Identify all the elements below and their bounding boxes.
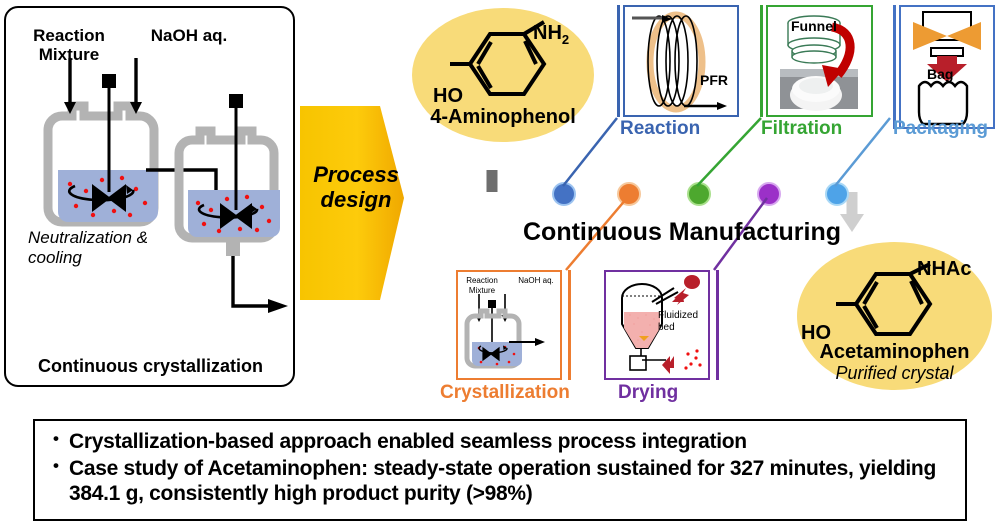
process-design-line1: Process: [300, 163, 412, 188]
pfr-label: PFR: [700, 72, 728, 88]
step-label-filtration: Filtration: [761, 118, 842, 140]
bag-label: Bag: [927, 66, 953, 82]
step-card-crystallization-accent-bar: [568, 270, 571, 380]
findings-box: Crystallization-based approach enabled s…: [33, 419, 967, 521]
stirred-tank-crystallizer-icon: [461, 294, 561, 378]
step-card-reaction-accent-bar: [617, 5, 620, 117]
fluidized-bed-label: Fluidized bed: [658, 310, 706, 333]
process-design-label: Process design: [300, 163, 412, 212]
step-card-packaging-accent-bar: [893, 5, 896, 129]
findings-list: Crystallization-based approach enabled s…: [35, 421, 965, 507]
plug-flow-reactor-coil-icon: [626, 8, 736, 114]
step-label-crystallization: Crystallization: [440, 382, 570, 404]
crystallizer-inlet-right-label: NaOH aq.: [512, 276, 560, 285]
findings-bullet-2: Case study of Acetaminophen: steady-stat…: [53, 456, 955, 506]
step-label-reaction: Reaction: [620, 118, 700, 140]
step-card-drying-accent-bar: [716, 270, 719, 380]
timeline-title: Continuous Manufacturing: [523, 218, 841, 247]
process-design-line2: design: [300, 188, 412, 213]
findings-bullet-1: Crystallization-based approach enabled s…: [53, 429, 955, 454]
step-card-filtration-accent-bar: [760, 5, 763, 117]
step-label-packaging: Packaging: [893, 118, 988, 140]
funnel-label: Funnel: [791, 18, 837, 34]
crystallizer-inlet-left-label: Reaction Mixture: [458, 276, 506, 295]
step-label-drying: Drying: [618, 382, 678, 404]
